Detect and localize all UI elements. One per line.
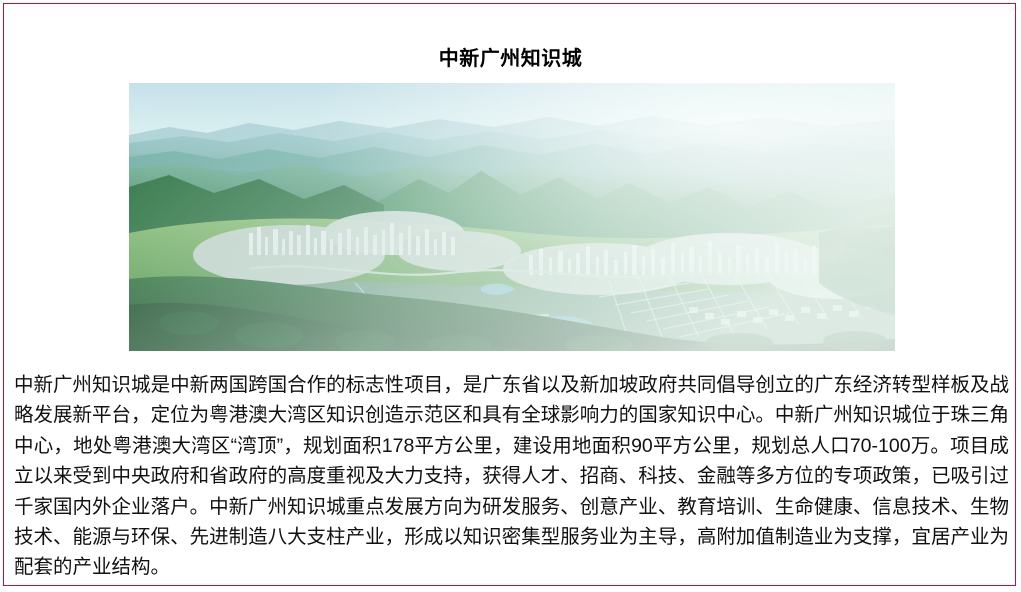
hero-image — [129, 83, 895, 351]
slide-frame: 中新广州知识城 — [3, 3, 1016, 586]
description-paragraph: 中新广州知识城是中新两国跨国合作的标志性项目，是广东省以及新加坡政府共同倡导创立… — [14, 370, 1009, 583]
aerial-rendering-illustration — [129, 83, 895, 351]
page-title: 中新广州知识城 — [4, 46, 1017, 72]
